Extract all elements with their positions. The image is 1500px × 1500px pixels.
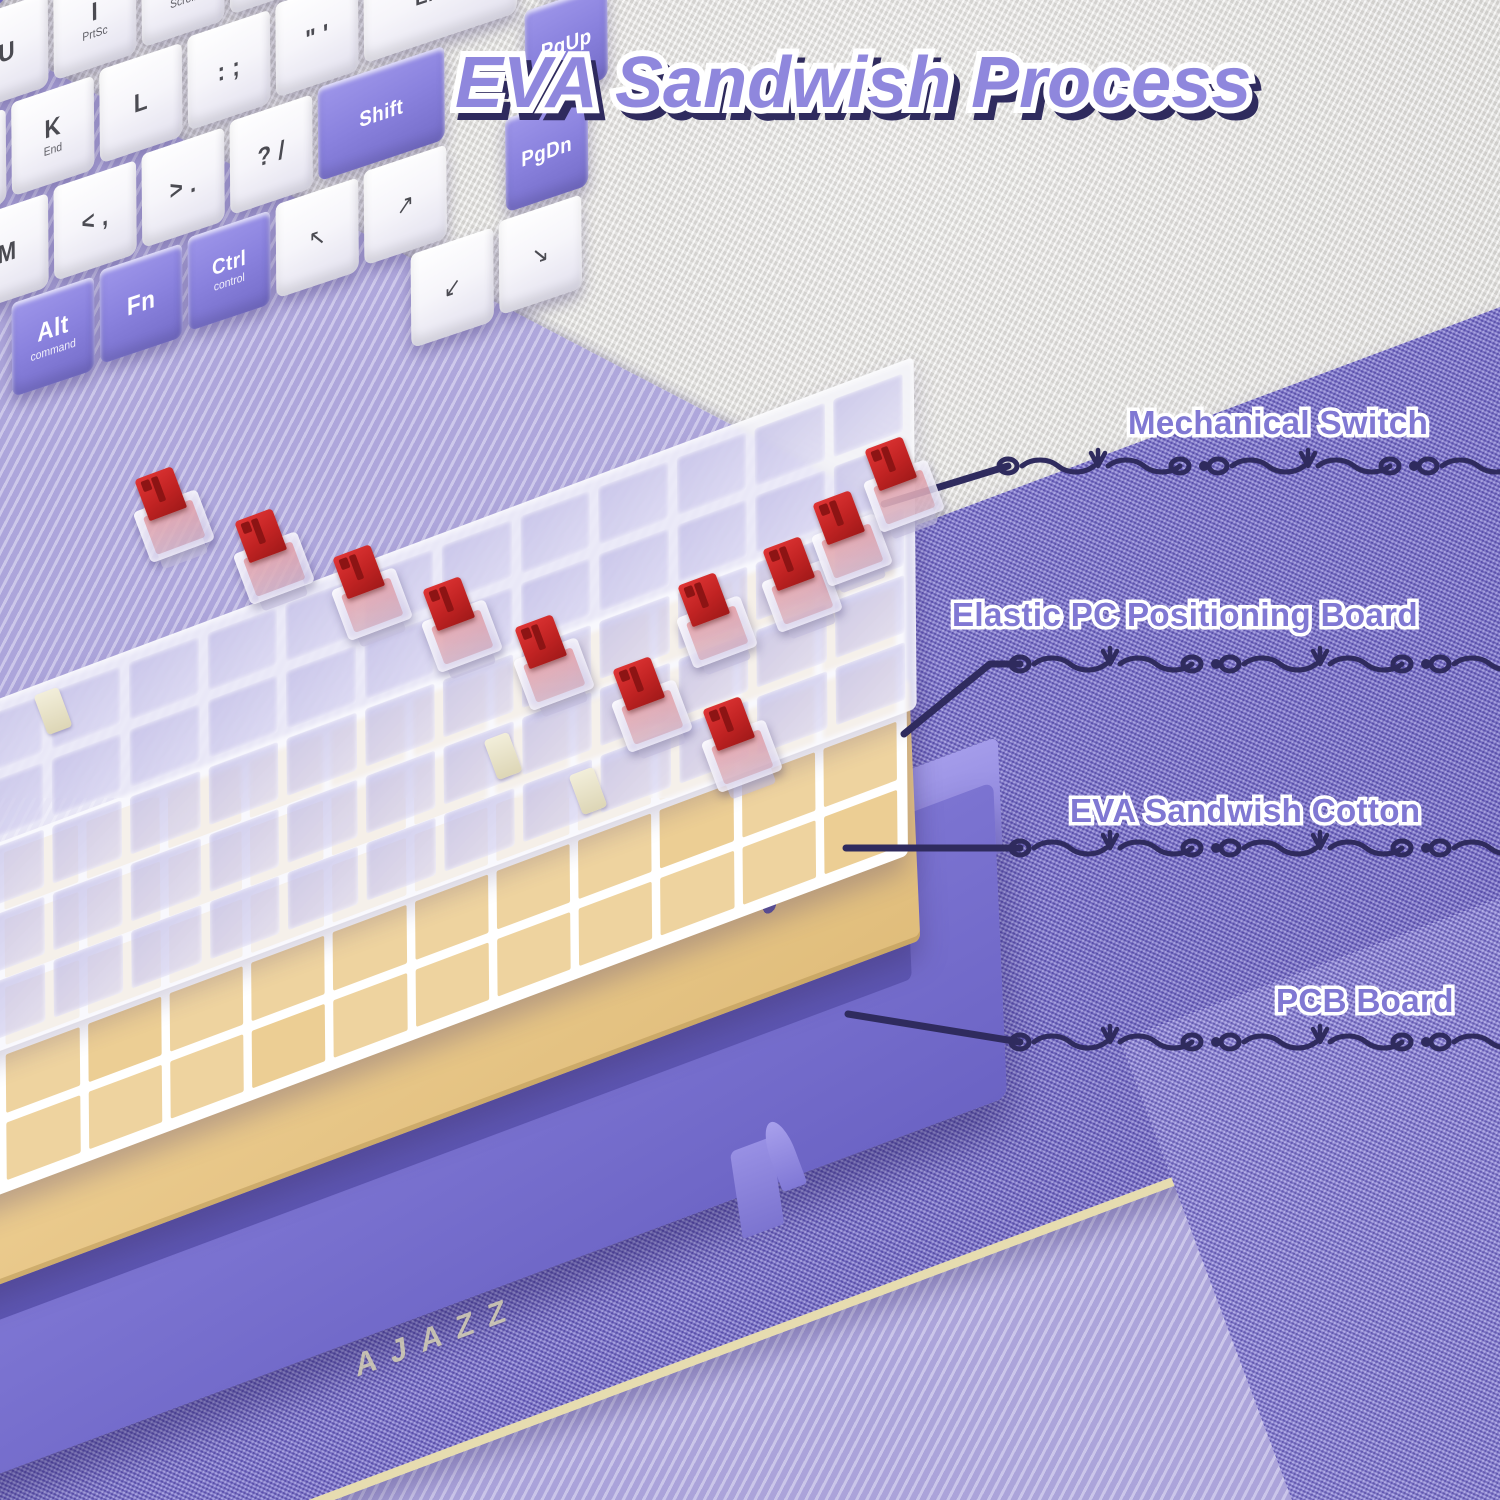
keycap-legend: I: [91, 0, 98, 26]
keycap-legend: : ;: [218, 54, 241, 87]
keycap-legend: Shift: [359, 96, 403, 132]
page-title: EVA Sandwish Process EVA Sandwish Proces…: [455, 42, 1251, 124]
keycap-legend: > .: [169, 171, 196, 206]
keycap-legend: Fn: [127, 286, 156, 321]
keycap-sublegend: Scroll: [170, 0, 196, 12]
key-glyph: ↗: [397, 190, 414, 219]
keycap-legend: L: [134, 88, 148, 118]
keycap-legend: " ': [305, 21, 329, 54]
callout-mechanical-switch: Mechanical Switch Mechanical Switch: [1128, 404, 1428, 442]
leader-line-mechanical-switch: [880, 440, 1500, 510]
product-infographic: AJAZZ F66 ^F77 &F88 *F99 (F100 )F11- _F1…: [0, 0, 1500, 1500]
keycap-legend: ? /: [257, 138, 285, 173]
leader-line-pcb-board: [840, 1000, 1500, 1070]
key-glyph: ↙: [443, 273, 460, 302]
keycap-arrow-right[interactable]: ↘: [498, 194, 581, 315]
leader-line-elastic-pc-positioning-board: [880, 630, 1500, 740]
key-glyph: ↖: [309, 223, 326, 252]
keycap-legend: M: [0, 238, 17, 270]
keycap-legend: U: [0, 38, 15, 69]
callout-elastic-pc-positioning-board: Elastic PC Positioning Board Elastic PC …: [952, 596, 1418, 634]
callout-eva-sandwish-cotton: EVA Sandwish Cotton EVA Sandwish Cotton: [1070, 792, 1420, 830]
keycap-sublegend: PrtSc: [82, 23, 107, 45]
callout-label-fill-mechanical-switch: Mechanical Switch: [1128, 404, 1428, 442]
title-fill: EVA Sandwish Process: [455, 43, 1251, 123]
keycap-legend: < ,: [81, 203, 108, 238]
keycap-legend: PgDn: [521, 133, 572, 171]
keycap-legend: Enter: [415, 0, 465, 10]
callout-label-fill-elastic-pc: Elastic PC Positioning Board: [952, 596, 1418, 634]
key-glyph: ↘: [531, 240, 548, 269]
pc-plate-switch-cutout: [0, 963, 45, 1047]
leader-line-eva-sandwish-cotton: [840, 826, 1500, 896]
pc-plate-switch-cutout: [366, 817, 436, 901]
callout-label-fill-eva-cotton: EVA Sandwish Cotton: [1070, 792, 1420, 830]
keycap-legend: K: [44, 113, 61, 144]
